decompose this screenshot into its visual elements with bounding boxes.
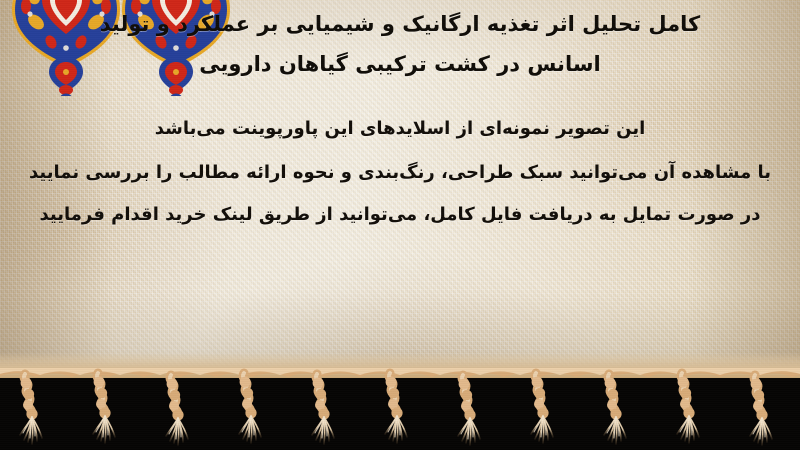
slide-title-line-1: کامل تحلیل اثر تغذیه ارگانیک و شیمیایی ب… xyxy=(100,12,700,36)
slide-body: این تصویر نمونه‌ای از اسلایدهای این پاور… xyxy=(0,108,800,236)
slide-text-content: کامل تحلیل اثر تغذیه ارگانیک و شیمیایی ب… xyxy=(0,0,800,374)
slide-title: کامل تحلیل اثر تغذیه ارگانیک و شیمیایی ب… xyxy=(0,4,800,84)
slide-canvas: کامل تحلیل اثر تغذیه ارگانیک و شیمیایی ب… xyxy=(0,0,800,450)
slide-body-line-2: با مشاهده آن می‌توانید سبک طراحی، رنگ‌بن… xyxy=(0,152,800,194)
slide-body-line-1: این تصویر نمونه‌ای از اسلایدهای این پاور… xyxy=(0,108,800,150)
slide-title-line-2: اسانس در کشت ترکیبی گیاهان دارویی xyxy=(0,44,800,84)
slide-body-line-3: در صورت تمایل به دریافت فایل کامل، می‌تو… xyxy=(0,194,800,236)
carpet-fringe-tassels xyxy=(0,368,800,450)
